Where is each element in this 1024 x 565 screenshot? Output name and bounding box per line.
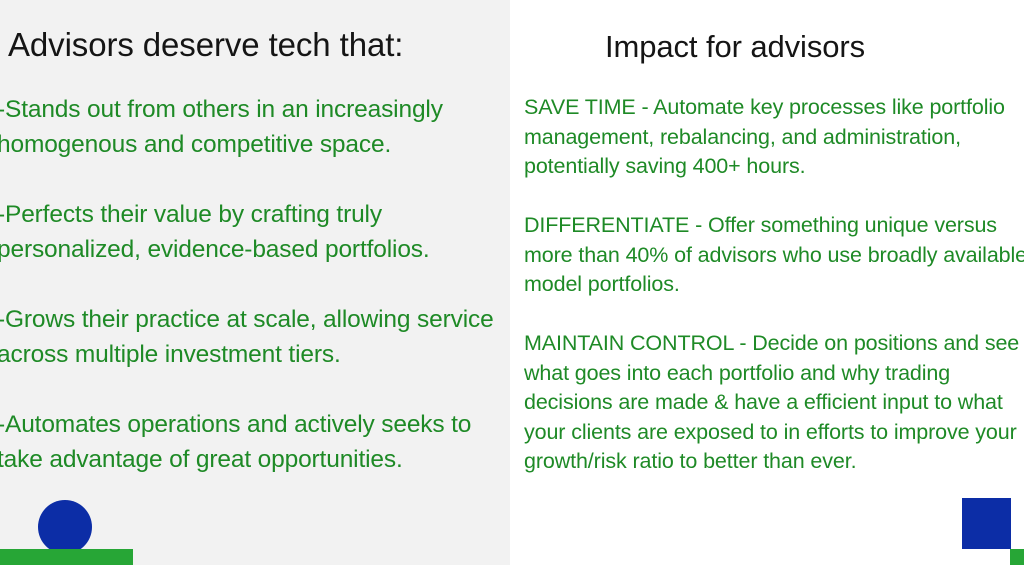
left-panel-bullet-list: -Stands out from others in an increasing… — [0, 92, 510, 477]
blue-square-decoration — [962, 498, 1011, 549]
left-panel-heading: Advisors deserve tech that: — [8, 26, 508, 65]
impact-item-save-time: SAVE TIME - Automate key processes like … — [524, 93, 1024, 182]
green-bar-decoration — [0, 549, 133, 565]
slide-canvas: Advisors deserve tech that: -Stands out … — [0, 0, 1024, 565]
left-bullet-item: -Stands out from others in an increasing… — [0, 92, 510, 162]
left-panel: Advisors deserve tech that: -Stands out … — [0, 0, 510, 565]
right-panel-heading: Impact for advisors — [510, 28, 1024, 65]
left-bullet-item: -Perfects their value by crafting truly … — [0, 197, 510, 267]
right-panel-impact-list: SAVE TIME - Automate key processes like … — [524, 93, 1024, 477]
blue-circle-decoration — [38, 500, 92, 554]
right-panel: Impact for advisors SAVE TIME - Automate… — [510, 0, 1024, 565]
green-square-decoration — [1010, 549, 1024, 565]
left-bullet-item: -Automates operations and actively seeks… — [0, 407, 510, 477]
left-bullet-item: -Grows their practice at scale, allowing… — [0, 302, 510, 372]
impact-item-differentiate: DIFFERENTIATE - Offer something unique v… — [524, 211, 1024, 300]
impact-item-maintain-control: MAINTAIN CONTROL - Decide on positions a… — [524, 329, 1024, 477]
